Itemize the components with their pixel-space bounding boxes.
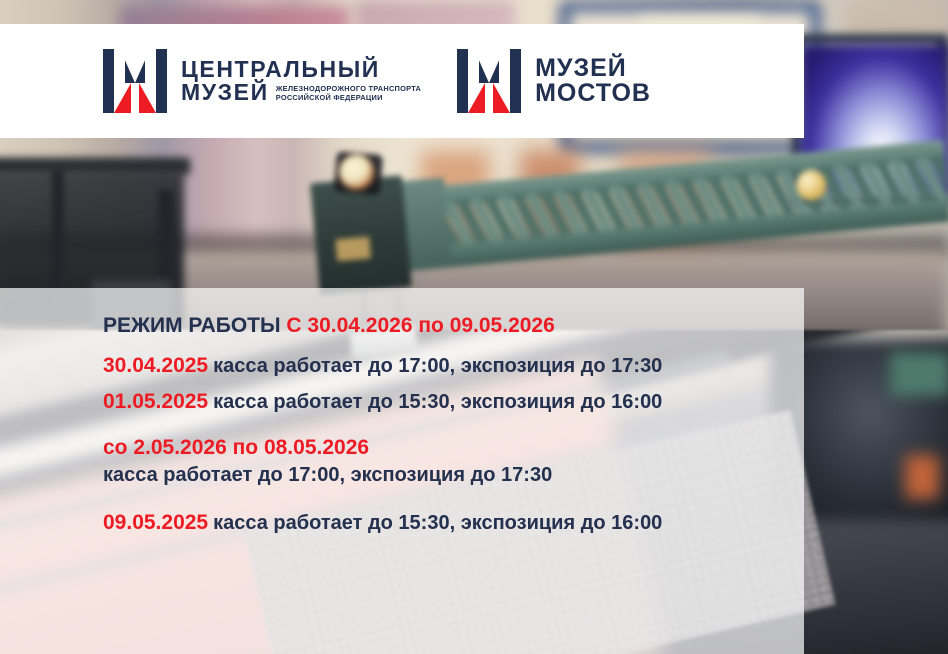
logo-bridges-museum: МУЗЕЙ МОСТОВ: [457, 49, 651, 113]
schedule-title: РЕЖИМ РАБОТЫ С 30.04.2026 по 09.05.2026: [103, 314, 804, 338]
schedule-title-static: РЕЖИМ РАБОТЫ: [103, 314, 286, 337]
m-monogram-icon: [103, 49, 167, 113]
schedule-row-text: касса работает до 15:30, экспозиция до 1…: [213, 391, 662, 413]
logo-subtitle: ЖЕЛЕЗНОДОРОЖНОГО ТРАНСПОРТА РОССИЙСКОЙ Ф…: [276, 84, 421, 103]
crane-headlamp: [334, 151, 383, 195]
logo-bridges-wordmark: МУЗЕЙ МОСТОВ: [535, 56, 651, 107]
photo-green-blur: [890, 352, 948, 396]
schedule-panel: РЕЖИМ РАБОТЫ С 30.04.2026 по 09.05.2026 …: [0, 288, 804, 654]
logo-line-2: МУЗЕЙ: [181, 81, 269, 104]
logo-central-wordmark: ЦЕНТРАЛЬНЫЙ МУЗЕЙ ЖЕЛЕЗНОДОРОЖНОГО ТРАНС…: [181, 58, 421, 105]
logo-line-1: ЦЕНТРАЛЬНЫЙ: [181, 58, 421, 81]
logo-central-museum: ЦЕНТРАЛЬНЫЙ МУЗЕЙ ЖЕЛЕЗНОДОРОЖНОГО ТРАНС…: [103, 49, 421, 113]
museum-schedule-poster: ЦЕНТРАЛЬНЫЙ МУЗЕЙ ЖЕЛЕЗНОДОРОЖНОГО ТРАНС…: [0, 0, 948, 654]
logo-line-1: МУЗЕЙ: [535, 56, 651, 82]
schedule-range-heading: со 2.05.2026 по 08.05.2026: [103, 436, 804, 460]
schedule-row-date: 30.04.2025: [103, 354, 208, 377]
schedule-row-text: касса работает до 15:30, экспозиция до 1…: [213, 512, 662, 534]
schedule-row: 09.05.2025касса работает до 15:30, экспо…: [103, 511, 804, 535]
schedule-row-text: касса работает до 17:00, экспозиция до 1…: [213, 355, 662, 377]
schedule-row: 30.04.2025касса работает до 17:00, экспо…: [103, 354, 804, 378]
schedule-row-date: 09.05.2025: [103, 511, 208, 534]
schedule-row: 01.05.2025касса работает до 15:30, экспо…: [103, 390, 804, 414]
schedule-row-date: 01.05.2025: [103, 390, 208, 413]
m-monogram-icon: [457, 49, 521, 113]
crane-plate: [335, 236, 371, 261]
crane-lamp-lens: [338, 154, 375, 191]
schedule-range-text: касса работает до 17:00, экспозиция до 1…: [103, 464, 804, 487]
photo-orange-blur: [905, 455, 939, 499]
logo-banner: ЦЕНТРАЛЬНЫЙ МУЗЕЙ ЖЕЛЕЗНОДОРОЖНОГО ТРАНС…: [0, 24, 804, 138]
photo-locomotive-roof: [0, 158, 190, 174]
schedule-title-range: С 30.04.2026 по 09.05.2026: [286, 314, 554, 337]
logo-line-2: МОСТОВ: [535, 81, 651, 107]
